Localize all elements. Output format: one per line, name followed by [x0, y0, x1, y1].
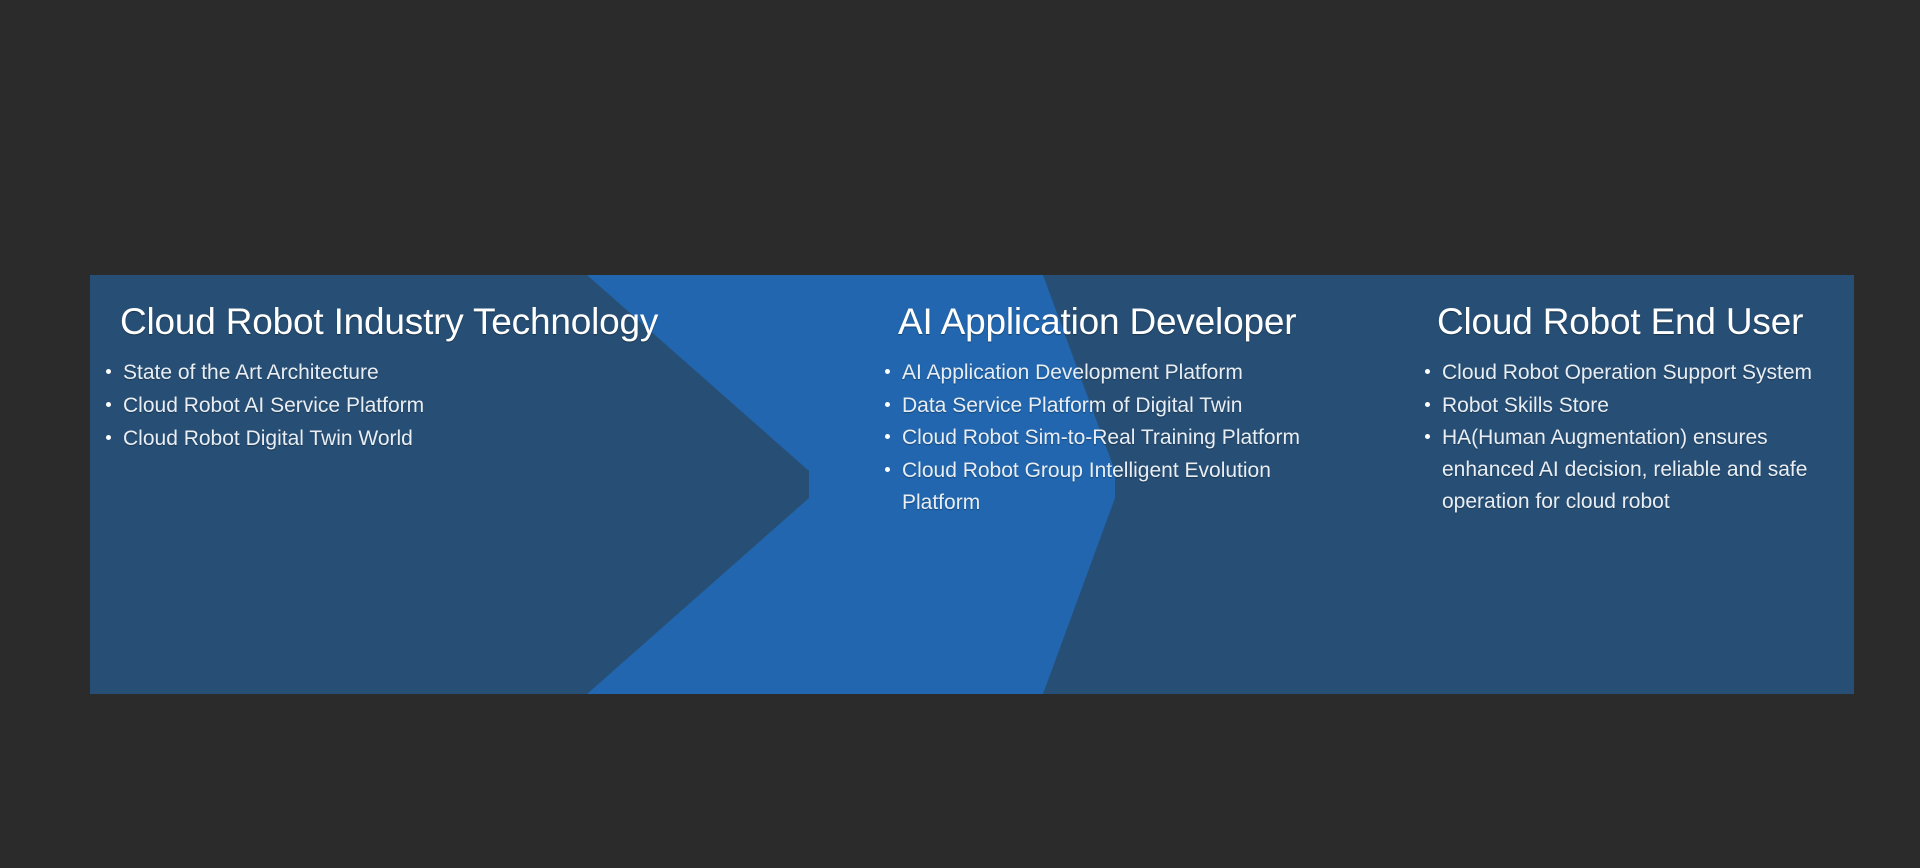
bullet-text: Cloud Robot Group Intelligent Evolution …	[902, 459, 1271, 514]
bullet-text: Cloud Robot Operation Support System	[1442, 361, 1812, 384]
list-item: AI Application Development Platform	[883, 357, 1353, 389]
panel-cloud-robot-industry-technology: Cloud Robot Industry Technology State of…	[90, 275, 805, 694]
bullet-text: Cloud Robot Digital Twin World	[123, 427, 413, 450]
panel-bullets-3: Cloud Robot Operation Support System Rob…	[1423, 357, 1843, 519]
panel-title-3: Cloud Robot End User	[1437, 301, 1803, 343]
bullet-dot-icon	[1425, 369, 1430, 374]
bullet-text: Robot Skills Store	[1442, 394, 1609, 417]
bullet-dot-icon	[885, 402, 890, 407]
bullet-dot-icon	[1425, 434, 1430, 439]
bullet-dot-icon	[885, 434, 890, 439]
panel-ai-application-developer: AI Application Developer AI Application …	[805, 275, 1365, 694]
panel-bullets-1: State of the Art Architecture Cloud Robo…	[104, 357, 764, 456]
panel-bullets-2: AI Application Development Platform Data…	[883, 357, 1353, 519]
list-item: HA(Human Augmentation) ensures enhanced …	[1423, 422, 1843, 518]
list-item: Cloud Robot AI Service Platform	[104, 390, 764, 423]
bullet-text: AI Application Development Platform	[902, 361, 1243, 384]
bullet-dot-icon	[885, 369, 890, 374]
bullet-text: Data Service Platform of Digital Twin	[902, 394, 1242, 417]
list-item: Robot Skills Store	[1423, 390, 1843, 422]
list-item: Data Service Platform of Digital Twin	[883, 390, 1353, 422]
three-stage-chevron-banner: Cloud Robot Industry Technology State of…	[90, 275, 1854, 694]
list-item: Cloud Robot Group Intelligent Evolution …	[883, 455, 1353, 519]
panel-cloud-robot-end-user: Cloud Robot End User Cloud Robot Operati…	[1365, 275, 1854, 694]
list-item: State of the Art Architecture	[104, 357, 764, 390]
list-item: Cloud Robot Sim-to-Real Training Platfor…	[883, 422, 1353, 454]
bullet-text: State of the Art Architecture	[123, 361, 379, 384]
bullet-text: Cloud Robot Sim-to-Real Training Platfor…	[902, 426, 1300, 449]
panel-title-1: Cloud Robot Industry Technology	[120, 301, 658, 343]
bullet-dot-icon	[106, 435, 111, 440]
bullet-text: Cloud Robot AI Service Platform	[123, 394, 424, 417]
bullet-dot-icon	[106, 402, 111, 407]
bullet-dot-icon	[1425, 402, 1430, 407]
panel-columns: Cloud Robot Industry Technology State of…	[90, 275, 1854, 694]
list-item: Cloud Robot Digital Twin World	[104, 423, 764, 456]
bullet-dot-icon	[106, 369, 111, 374]
list-item: Cloud Robot Operation Support System	[1423, 357, 1843, 389]
bullet-text: HA(Human Augmentation) ensures enhanced …	[1442, 426, 1807, 513]
bullet-dot-icon	[885, 467, 890, 472]
panel-title-2: AI Application Developer	[898, 301, 1296, 343]
